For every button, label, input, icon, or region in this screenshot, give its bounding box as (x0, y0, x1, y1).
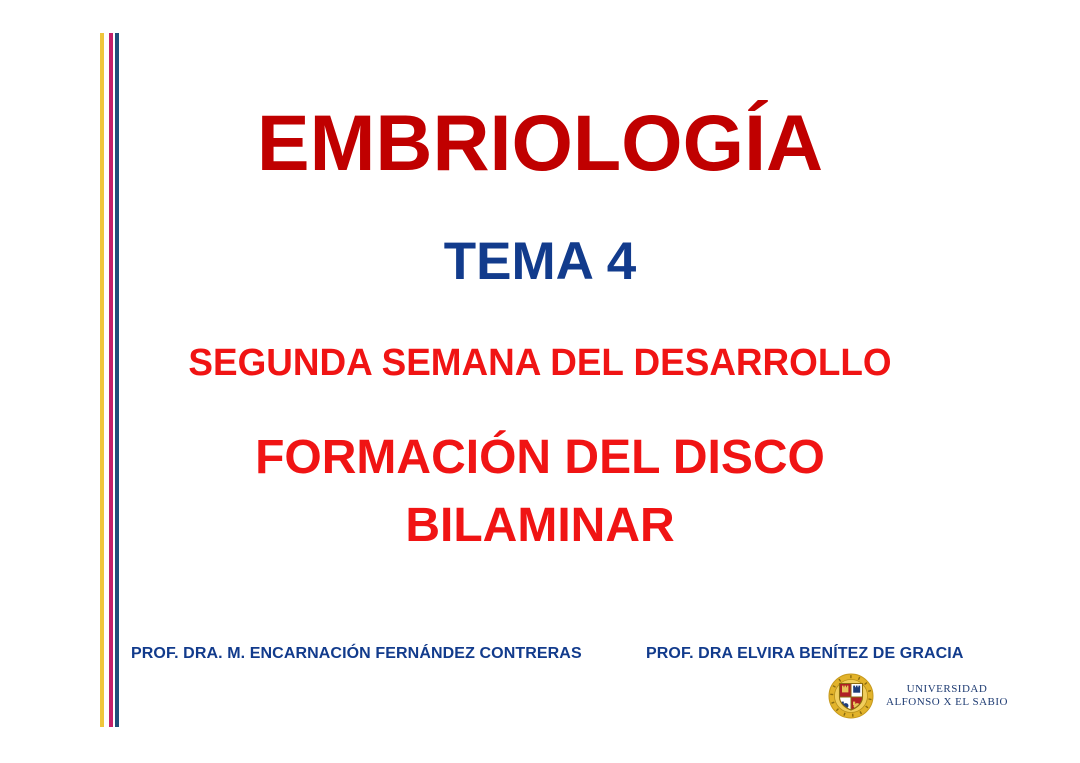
university-logo-text: UNIVERSIDAD ALFONSO X EL SABIO (886, 683, 1008, 710)
slide-subtitle-week: SEGUNDA SEMANA DEL DESARROLLO (16, 344, 1064, 382)
author-right: PROF. DRA ELVIRA BENÍTEZ DE GRACIA (646, 645, 964, 663)
slide-subtitle-disc-line1: FORMACIÓN DEL DISCO (255, 431, 825, 484)
university-logo: UNIVERSIDAD ALFONSO X EL SABIO (828, 672, 1008, 720)
slide-subtitle-disc: FORMACIÓN DEL DISCO BILAMINAR (0, 424, 1080, 560)
slide-topic-number: TEMA 4 (0, 235, 1080, 288)
university-logo-line1: UNIVERSIDAD (886, 683, 1008, 696)
slide-subtitle-disc-line2: BILAMINAR (0, 492, 1080, 560)
university-logo-line2: ALFONSO X EL SABIO (886, 696, 1008, 709)
slide-title: EMBRIOLOGÍA (0, 103, 1080, 182)
presentation-slide: EMBRIOLOGÍA TEMA 4 SEGUNDA SEMANA DEL DE… (0, 0, 1080, 763)
author-left: PROF. DRA. M. ENCARNACIÓN FERNÁNDEZ CONT… (131, 645, 582, 663)
university-crest-seal-icon (828, 673, 874, 719)
